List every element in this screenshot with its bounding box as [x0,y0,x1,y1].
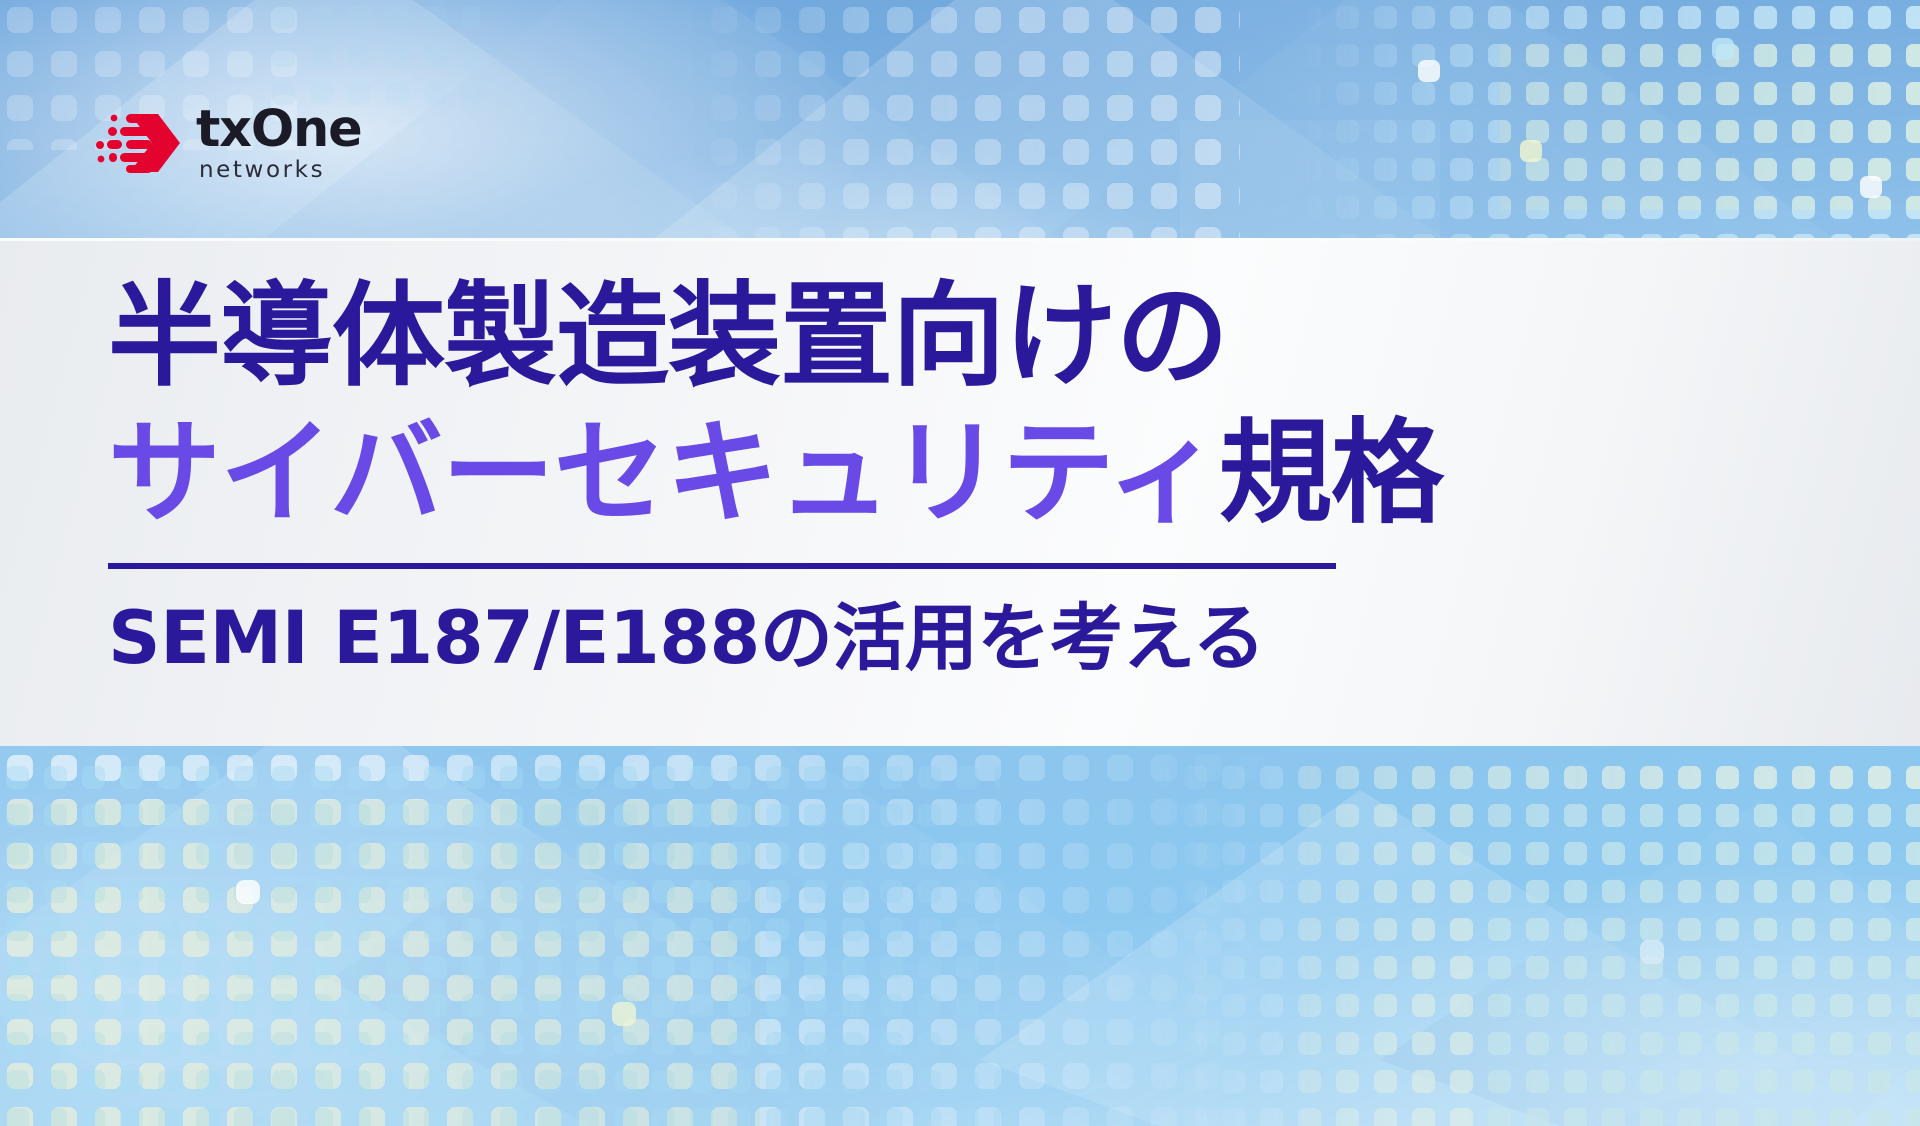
brand-wordmark: txOne networks [196,104,362,182]
hero-title-tail: 規格 [1219,407,1443,539]
txone-arrow-logomark-icon [96,110,182,176]
hero-content: 半導体製造装置向けの サイバーセキュリティ規格 SEMI E187/E188の活… [108,268,1528,682]
title-divider [108,563,1336,569]
brand-name: txOne [196,104,362,155]
hero-subtitle: SEMI E187/E188の活用を考える [108,597,1528,682]
hero-title-line-1: 半導体製造装置向けの [108,268,1528,405]
title-card-banner: txOne networks 半導体製造装置向けの サイバーセキュリティ規格 S… [0,0,1920,1126]
hero-title-line-2: サイバーセキュリティ規格 [108,405,1528,542]
brand-logo[interactable]: txOne networks [96,104,362,182]
hero-title-accent: サイバーセキュリティ [108,407,1219,539]
brand-tagline: networks [199,159,325,182]
